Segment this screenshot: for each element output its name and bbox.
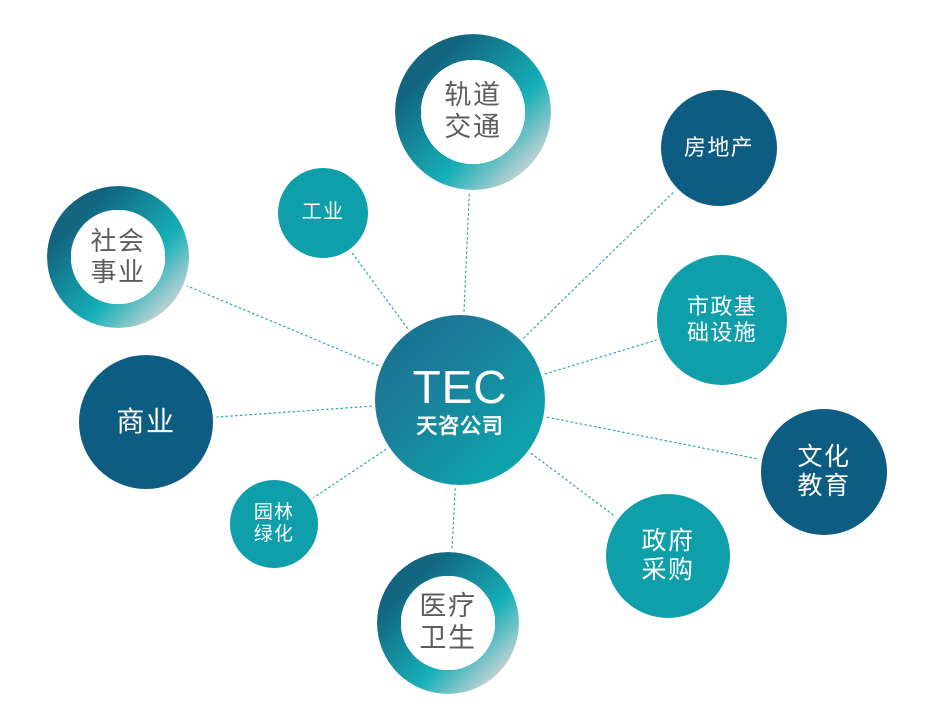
node-label-culture-education: 文化 教育 xyxy=(797,443,850,502)
node-label-landscaping: 园林 绿化 xyxy=(254,502,294,547)
node-label-real-estate: 房地产 xyxy=(684,135,754,161)
tec-center-english-label: TEC xyxy=(413,364,508,410)
connector-tec-center-node-to-culture-education xyxy=(547,417,758,459)
node-medical-health[interactable]: 医疗 卫生 xyxy=(377,552,519,694)
node-commerce[interactable]: 商业 xyxy=(79,355,213,489)
node-label-industry: 工业 xyxy=(302,201,344,225)
connector-tec-center-node-to-medical-health xyxy=(452,489,455,548)
node-label-government-procurement: 政府 采购 xyxy=(641,527,694,586)
connector-tec-center-node-to-landscaping xyxy=(314,449,386,497)
connector-tec-center-node-to-commerce xyxy=(217,406,371,417)
node-label-commerce: 商业 xyxy=(116,405,175,438)
node-real-estate[interactable]: 房地产 xyxy=(661,90,777,206)
node-government-procurement[interactable]: 政府 采购 xyxy=(606,494,730,618)
node-label-municipal-infrastructure: 市政基 础设施 xyxy=(687,294,757,346)
connector-tec-center-node-to-real-estate xyxy=(524,191,675,338)
node-label-social-services: 社会 事业 xyxy=(90,226,145,287)
node-landscaping[interactable]: 园林 绿化 xyxy=(230,480,318,568)
node-rail-transit[interactable]: 轨道 交通 xyxy=(395,34,551,190)
node-label-medical-health: 医疗 卫生 xyxy=(419,591,476,655)
tec-center-chinese-label: 天咨公司 xyxy=(416,416,503,437)
connector-tec-center-node-to-rail-transit xyxy=(464,194,469,311)
node-municipal-infrastructure[interactable]: 市政基 础设施 xyxy=(657,255,787,385)
connector-tec-center-node-to-social-services xyxy=(187,286,378,366)
tec-center-node[interactable]: TEC 天咨公司 xyxy=(375,315,545,485)
connector-tec-center-node-to-municipal-infrastructure xyxy=(545,340,656,374)
connector-tec-center-node-to-industry xyxy=(352,253,407,329)
diagram-canvas: 轨道 交通房地产市政基 础设施文化 教育政府 采购医疗 卫生园林 绿化商业社会 … xyxy=(0,0,940,720)
node-culture-education[interactable]: 文化 教育 xyxy=(761,409,887,535)
node-label-rail-transit: 轨道 交通 xyxy=(444,80,501,144)
node-industry[interactable]: 工业 xyxy=(278,168,368,258)
connector-tec-center-node-to-government-procurement xyxy=(531,453,615,516)
node-social-services[interactable]: 社会 事业 xyxy=(47,186,189,328)
